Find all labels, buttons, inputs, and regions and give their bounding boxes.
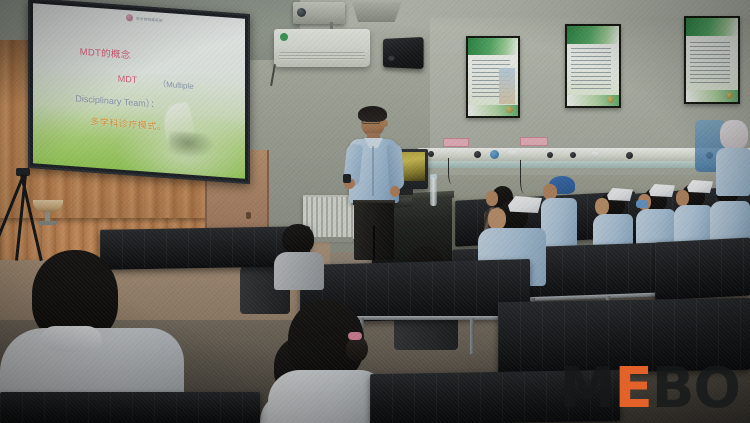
plaque-text-lines bbox=[571, 48, 611, 90]
nurse-5 bbox=[716, 120, 750, 196]
water-bottle bbox=[430, 178, 437, 206]
wall-cable-1 bbox=[448, 158, 457, 184]
attendee-head-light bbox=[720, 120, 748, 150]
wall-mounted-speaker bbox=[383, 37, 424, 69]
slide-shadow-graphic bbox=[169, 132, 215, 161]
plaque-seal-icon bbox=[607, 96, 614, 103]
face bbox=[595, 198, 609, 215]
rail-label-right bbox=[520, 137, 548, 146]
watermark-part-1: M bbox=[560, 362, 615, 415]
trouser-seam bbox=[373, 226, 375, 260]
shirt-placket bbox=[372, 146, 374, 196]
plaque-text-lines bbox=[690, 42, 730, 86]
slide-logo-text: 医学院附属医院 bbox=[136, 16, 163, 23]
nurse-uniform-5 bbox=[716, 148, 750, 196]
projector-ceiling-mount bbox=[352, 2, 402, 22]
rail-label-left bbox=[443, 138, 469, 147]
ac-brand-logo-icon bbox=[280, 33, 288, 41]
attendee-back-left-small bbox=[274, 224, 326, 290]
presenter-right-arm bbox=[386, 144, 404, 191]
glasses-icon bbox=[362, 118, 380, 124]
surgical-mask bbox=[636, 200, 648, 208]
door-knob-icon bbox=[246, 212, 251, 219]
presentation-clicker bbox=[343, 174, 351, 183]
plaque-header-band bbox=[686, 18, 738, 36]
watermark-part-2: E bbox=[614, 362, 651, 415]
bench-row-mid-far[interactable] bbox=[655, 238, 750, 301]
power-socket-2 bbox=[592, 152, 598, 158]
gas-outlet-1 bbox=[428, 151, 434, 157]
presenter-ear bbox=[383, 120, 388, 127]
bench-leg-4 bbox=[470, 318, 474, 354]
attendee-front-right bbox=[272, 300, 382, 423]
hospital-logo-icon bbox=[126, 14, 133, 22]
slide-line2-mdt: MDT bbox=[118, 73, 138, 84]
oxygen-outlet bbox=[490, 150, 499, 159]
plaque-seal-icon bbox=[726, 92, 733, 99]
gas-outlet-4 bbox=[570, 152, 576, 158]
white-coat bbox=[268, 370, 386, 423]
plaque-header-band bbox=[468, 38, 518, 55]
gas-outlet-5 bbox=[626, 152, 633, 159]
bowl-base bbox=[38, 221, 57, 225]
plaque-seal-icon bbox=[506, 106, 513, 113]
speaker-cone-icon bbox=[388, 56, 394, 61]
slide-title: MDT的概念 bbox=[80, 43, 131, 61]
wall-plaque-1 bbox=[466, 36, 520, 118]
presenter bbox=[345, 108, 405, 260]
projection-screen: 医学院附属医院 MDT的概念 MDT （Multiple Disciplinar… bbox=[28, 0, 250, 184]
nurse-cap-2 bbox=[649, 184, 675, 197]
ceiling-projector bbox=[293, 2, 345, 24]
bench-row-foreground-left[interactable] bbox=[0, 392, 260, 423]
nurse-cap-1 bbox=[607, 188, 633, 201]
photo-scene: 医学院附属医院 MDT的概念 MDT （Multiple Disciplinar… bbox=[0, 0, 750, 423]
slide-line4: 多学科诊疗模式。 bbox=[90, 115, 166, 134]
face bbox=[488, 208, 506, 230]
slide-line2-rest: （Multiple bbox=[158, 78, 194, 92]
projector-lens-icon bbox=[297, 8, 306, 17]
plaque-photo bbox=[499, 68, 515, 104]
face bbox=[676, 190, 689, 206]
slide-line3: Disciplinary Team）： bbox=[75, 91, 159, 110]
gas-outlet-2 bbox=[474, 151, 481, 158]
slide-institution-logo: 医学院附属医院 bbox=[126, 14, 163, 24]
shirt-collar bbox=[40, 326, 102, 352]
watermark: M E BO bbox=[560, 362, 740, 415]
attendee-top bbox=[274, 252, 324, 290]
slide-surface: 医学院附属医院 MDT的概念 MDT （Multiple Disciplinar… bbox=[33, 3, 245, 179]
head bbox=[282, 224, 314, 254]
gas-outlet-3 bbox=[547, 152, 553, 158]
wall-air-conditioner bbox=[274, 29, 370, 67]
presenter-right-hand bbox=[390, 186, 400, 197]
watermark-part-3: BO bbox=[652, 362, 740, 415]
power-socket-1 bbox=[508, 151, 517, 158]
plaque-header-band bbox=[567, 26, 619, 44]
wall-plaque-3 bbox=[684, 16, 740, 104]
ac-vent-louvers bbox=[279, 52, 365, 60]
wall-plaque-2 bbox=[565, 24, 621, 108]
hair-tie bbox=[348, 332, 362, 340]
